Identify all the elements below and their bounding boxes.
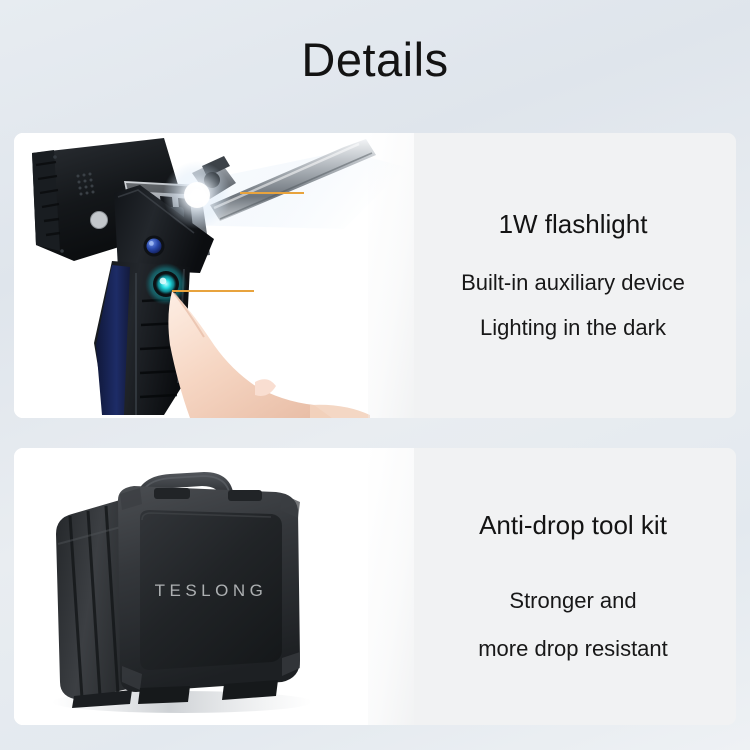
page-title: Details <box>301 36 448 83</box>
feature-card-toolkit: TESLONG <box>14 448 736 725</box>
power-button[interactable] <box>145 263 187 305</box>
tool-case-illustration: TESLONG <box>14 448 414 725</box>
feature-text-flashlight: 1W flashlight Built-in auxiliary device … <box>414 133 736 418</box>
endoscope-handle-photo <box>14 133 414 418</box>
details-page: Details <box>0 0 750 750</box>
case-front-shell: TESLONG <box>118 486 300 692</box>
blue-indicator-button[interactable] <box>144 236 165 257</box>
feature-line-1: Stronger and <box>509 588 636 614</box>
feature-line-2: Lighting in the dark <box>480 315 666 341</box>
feature-text-toolkit: Anti-drop tool kit Stronger and more dro… <box>414 448 736 725</box>
page-header: Details <box>0 0 750 118</box>
feature-title: Anti-drop tool kit <box>479 511 667 541</box>
tool-case-photo: TESLONG <box>14 448 414 725</box>
feature-line-1: Built-in auxiliary device <box>461 270 685 296</box>
feature-line-2: more drop resistant <box>478 636 668 662</box>
flashlight-led <box>163 161 231 229</box>
endoscope-illustration <box>14 133 414 418</box>
feature-card-flashlight: 1W flashlight Built-in auxiliary device … <box>14 133 736 418</box>
feature-title: 1W flashlight <box>499 210 648 240</box>
brand-logo: TESLONG <box>155 581 268 600</box>
